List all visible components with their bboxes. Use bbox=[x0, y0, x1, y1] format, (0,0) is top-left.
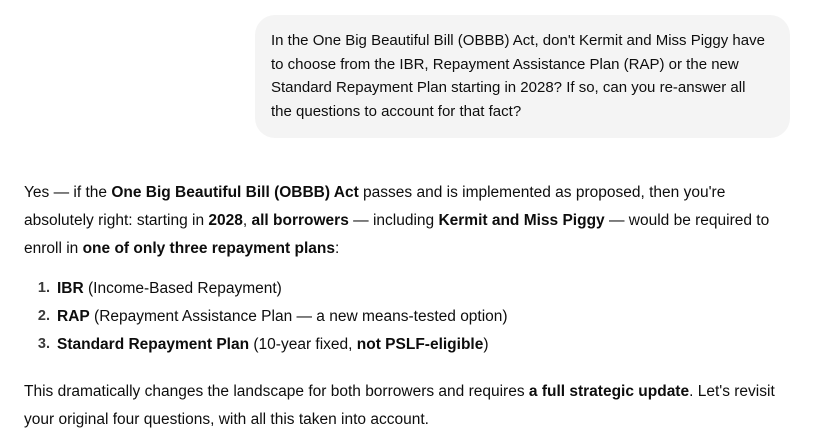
list-item: 3. Standard Repayment Plan (10-year fixe… bbox=[24, 333, 797, 356]
list-item-text: RAP (Repayment Assistance Plan — a new m… bbox=[57, 308, 508, 325]
list-item: 1. IBR (Income-Based Repayment) bbox=[24, 277, 797, 300]
list-item-marker: 3. bbox=[28, 333, 50, 356]
assistant-message-turn: Yes — if the One Big Beautiful Bill (OBB… bbox=[0, 138, 821, 434]
assistant-intro-paragraph: Yes — if the One Big Beautiful Bill (OBB… bbox=[24, 179, 784, 263]
assistant-closing-paragraph: This dramatically changes the landscape … bbox=[24, 378, 784, 434]
list-item-marker: 1. bbox=[28, 277, 50, 300]
user-message-text: In the One Big Beautiful Bill (OBBB) Act… bbox=[271, 29, 770, 123]
list-item-text: Standard Repayment Plan (10-year fixed, … bbox=[57, 336, 489, 353]
repayment-plan-list: 1. IBR (Income-Based Repayment) 2. RAP (… bbox=[24, 277, 797, 356]
user-message-turn: In the One Big Beautiful Bill (OBBB) Act… bbox=[0, 0, 821, 138]
user-message-bubble[interactable]: In the One Big Beautiful Bill (OBBB) Act… bbox=[255, 15, 790, 138]
list-item-marker: 2. bbox=[28, 305, 50, 328]
chat-conversation: In the One Big Beautiful Bill (OBBB) Act… bbox=[0, 0, 821, 424]
list-item-text: IBR (Income-Based Repayment) bbox=[57, 280, 282, 297]
list-item: 2. RAP (Repayment Assistance Plan — a ne… bbox=[24, 305, 797, 328]
